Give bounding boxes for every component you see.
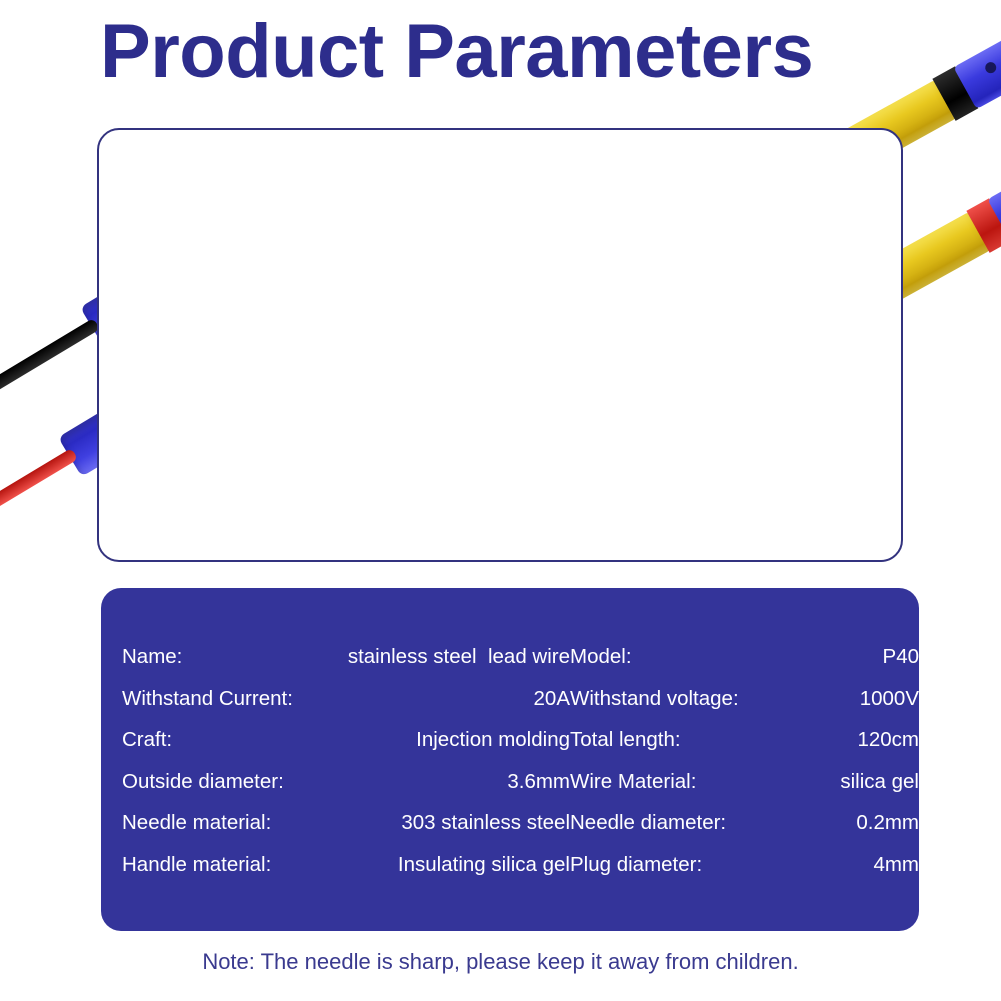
plug-lead-red xyxy=(0,448,78,536)
spec-value: 120cm xyxy=(857,719,919,761)
spec-label: Name: xyxy=(122,636,182,678)
product-parameters-page: Product Parameters xyxy=(0,0,1001,1001)
spec-column-left: Name: stainless steel lead wire Withstan… xyxy=(101,636,570,931)
safety-note: Note: The needle is sharp, please keep i… xyxy=(0,945,1001,979)
spec-value: Injection molding xyxy=(416,719,570,761)
spec-row: Withstand Current: 20A xyxy=(122,678,570,720)
spec-label: Withstand Current: xyxy=(122,678,293,720)
plug-lead-black xyxy=(0,318,100,406)
spec-value: 20A xyxy=(534,678,570,720)
spec-value: Insulating silica gel xyxy=(398,844,570,886)
spec-label: Model: xyxy=(570,636,632,678)
spec-panel: Name: stainless steel lead wire Withstan… xyxy=(101,588,919,931)
spec-value: stainless steel lead wire xyxy=(348,636,570,678)
spec-row: Name: stainless steel lead wire xyxy=(122,636,570,678)
spec-row: Needle material: 303 stainless steel xyxy=(122,802,570,844)
spec-row: Withstand voltage: 1000V xyxy=(570,678,919,720)
photo-frame xyxy=(97,128,903,562)
spec-value: silica gel xyxy=(840,761,919,803)
spec-row: Outside diameter: 3.6mm xyxy=(122,761,570,803)
probe-cap-hole-black xyxy=(983,60,998,75)
spec-row: Total length: 120cm xyxy=(570,719,919,761)
spec-row: Needle diameter: 0.2mm xyxy=(570,802,919,844)
spec-label: Needle diameter: xyxy=(570,802,726,844)
spec-column-right: Model: P40 Withstand voltage: 1000V Tota… xyxy=(570,636,919,931)
spec-value: 3.6mm xyxy=(507,761,570,803)
spec-value: 0.2mm xyxy=(856,802,919,844)
spec-label: Wire Material: xyxy=(570,761,696,803)
spec-value: 4mm xyxy=(873,844,919,886)
spec-row: Handle material: Insulating silica gel xyxy=(122,844,570,886)
spec-row: Model: P40 xyxy=(570,636,919,678)
spec-label: Handle material: xyxy=(122,844,271,886)
spec-value: 303 stainless steel xyxy=(401,802,570,844)
spec-label: Needle material: xyxy=(122,802,271,844)
probe-endcap-red xyxy=(987,170,1001,241)
spec-label: Total length: xyxy=(570,719,681,761)
probe-band-black xyxy=(932,66,978,121)
spec-row: Plug diameter: 4mm xyxy=(570,844,919,886)
spec-row: Craft: Injection molding xyxy=(122,719,570,761)
page-title: Product Parameters xyxy=(100,6,813,98)
spec-row: Wire Material: silica gel xyxy=(570,761,919,803)
probe-band-red xyxy=(966,198,1001,253)
spec-label: Craft: xyxy=(122,719,172,761)
spec-label: Withstand voltage: xyxy=(570,678,739,720)
spec-label: Outside diameter: xyxy=(122,761,284,803)
spec-label: Plug diameter: xyxy=(570,844,702,886)
spec-value: 1000V xyxy=(860,678,919,720)
probe-endcap-black xyxy=(953,38,1001,109)
spec-value: P40 xyxy=(883,636,919,678)
